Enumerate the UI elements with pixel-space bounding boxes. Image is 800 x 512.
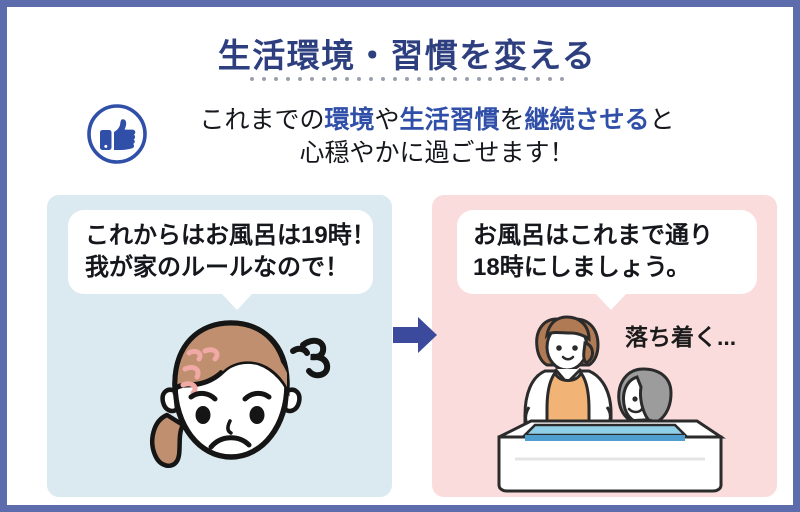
worried-woman-face-illustration xyxy=(127,307,352,489)
subtitle-seg-3: や xyxy=(374,106,399,134)
subtitle-text: これまでの環境や生活習慣を継続させると 心穏やかに過ごせます！ xyxy=(157,104,717,171)
speech-bubble-left: これからはお風呂は19時！ 我が家のルールなので！ xyxy=(68,210,373,294)
subtitle-seg-4: 生活習慣 xyxy=(399,106,499,134)
bubble-left-line-1: これからはお風呂は19時！ xyxy=(85,220,373,252)
speech-bubble-right: お風呂はこれまで通り 18時にしましょう。 xyxy=(457,210,757,294)
subtitle-seg-1: これまでの xyxy=(199,106,324,134)
subtitle-line-2: 心穏やかに過ごせます！ xyxy=(157,137,717,170)
bubble-left-line-2: 我が家のルールなので！ xyxy=(85,252,373,284)
bubble-right-line-2: 18時にしましょう。 xyxy=(473,252,757,284)
title-dotted-divider xyxy=(250,75,564,83)
arrow-right-icon xyxy=(390,310,440,360)
page-title: 生活環境・習慣を変える xyxy=(7,29,800,77)
subtitle-seg-5: を xyxy=(500,106,525,134)
page-frame: 生活環境・習慣を変える これまでの環境や生活習慣を継続させると 心穏やかに過ごせ… xyxy=(0,0,800,512)
subtitle-seg-7: と xyxy=(650,106,675,134)
annotation-ochitsuku: 落ち着く... xyxy=(625,318,736,352)
bubble-right-line-1: お風呂はこれまで通り xyxy=(473,220,757,252)
subtitle-seg-6: 継続させる xyxy=(525,106,650,134)
subtitle-seg-2: 環境 xyxy=(324,106,374,134)
thumbs-up-icon xyxy=(86,103,148,165)
